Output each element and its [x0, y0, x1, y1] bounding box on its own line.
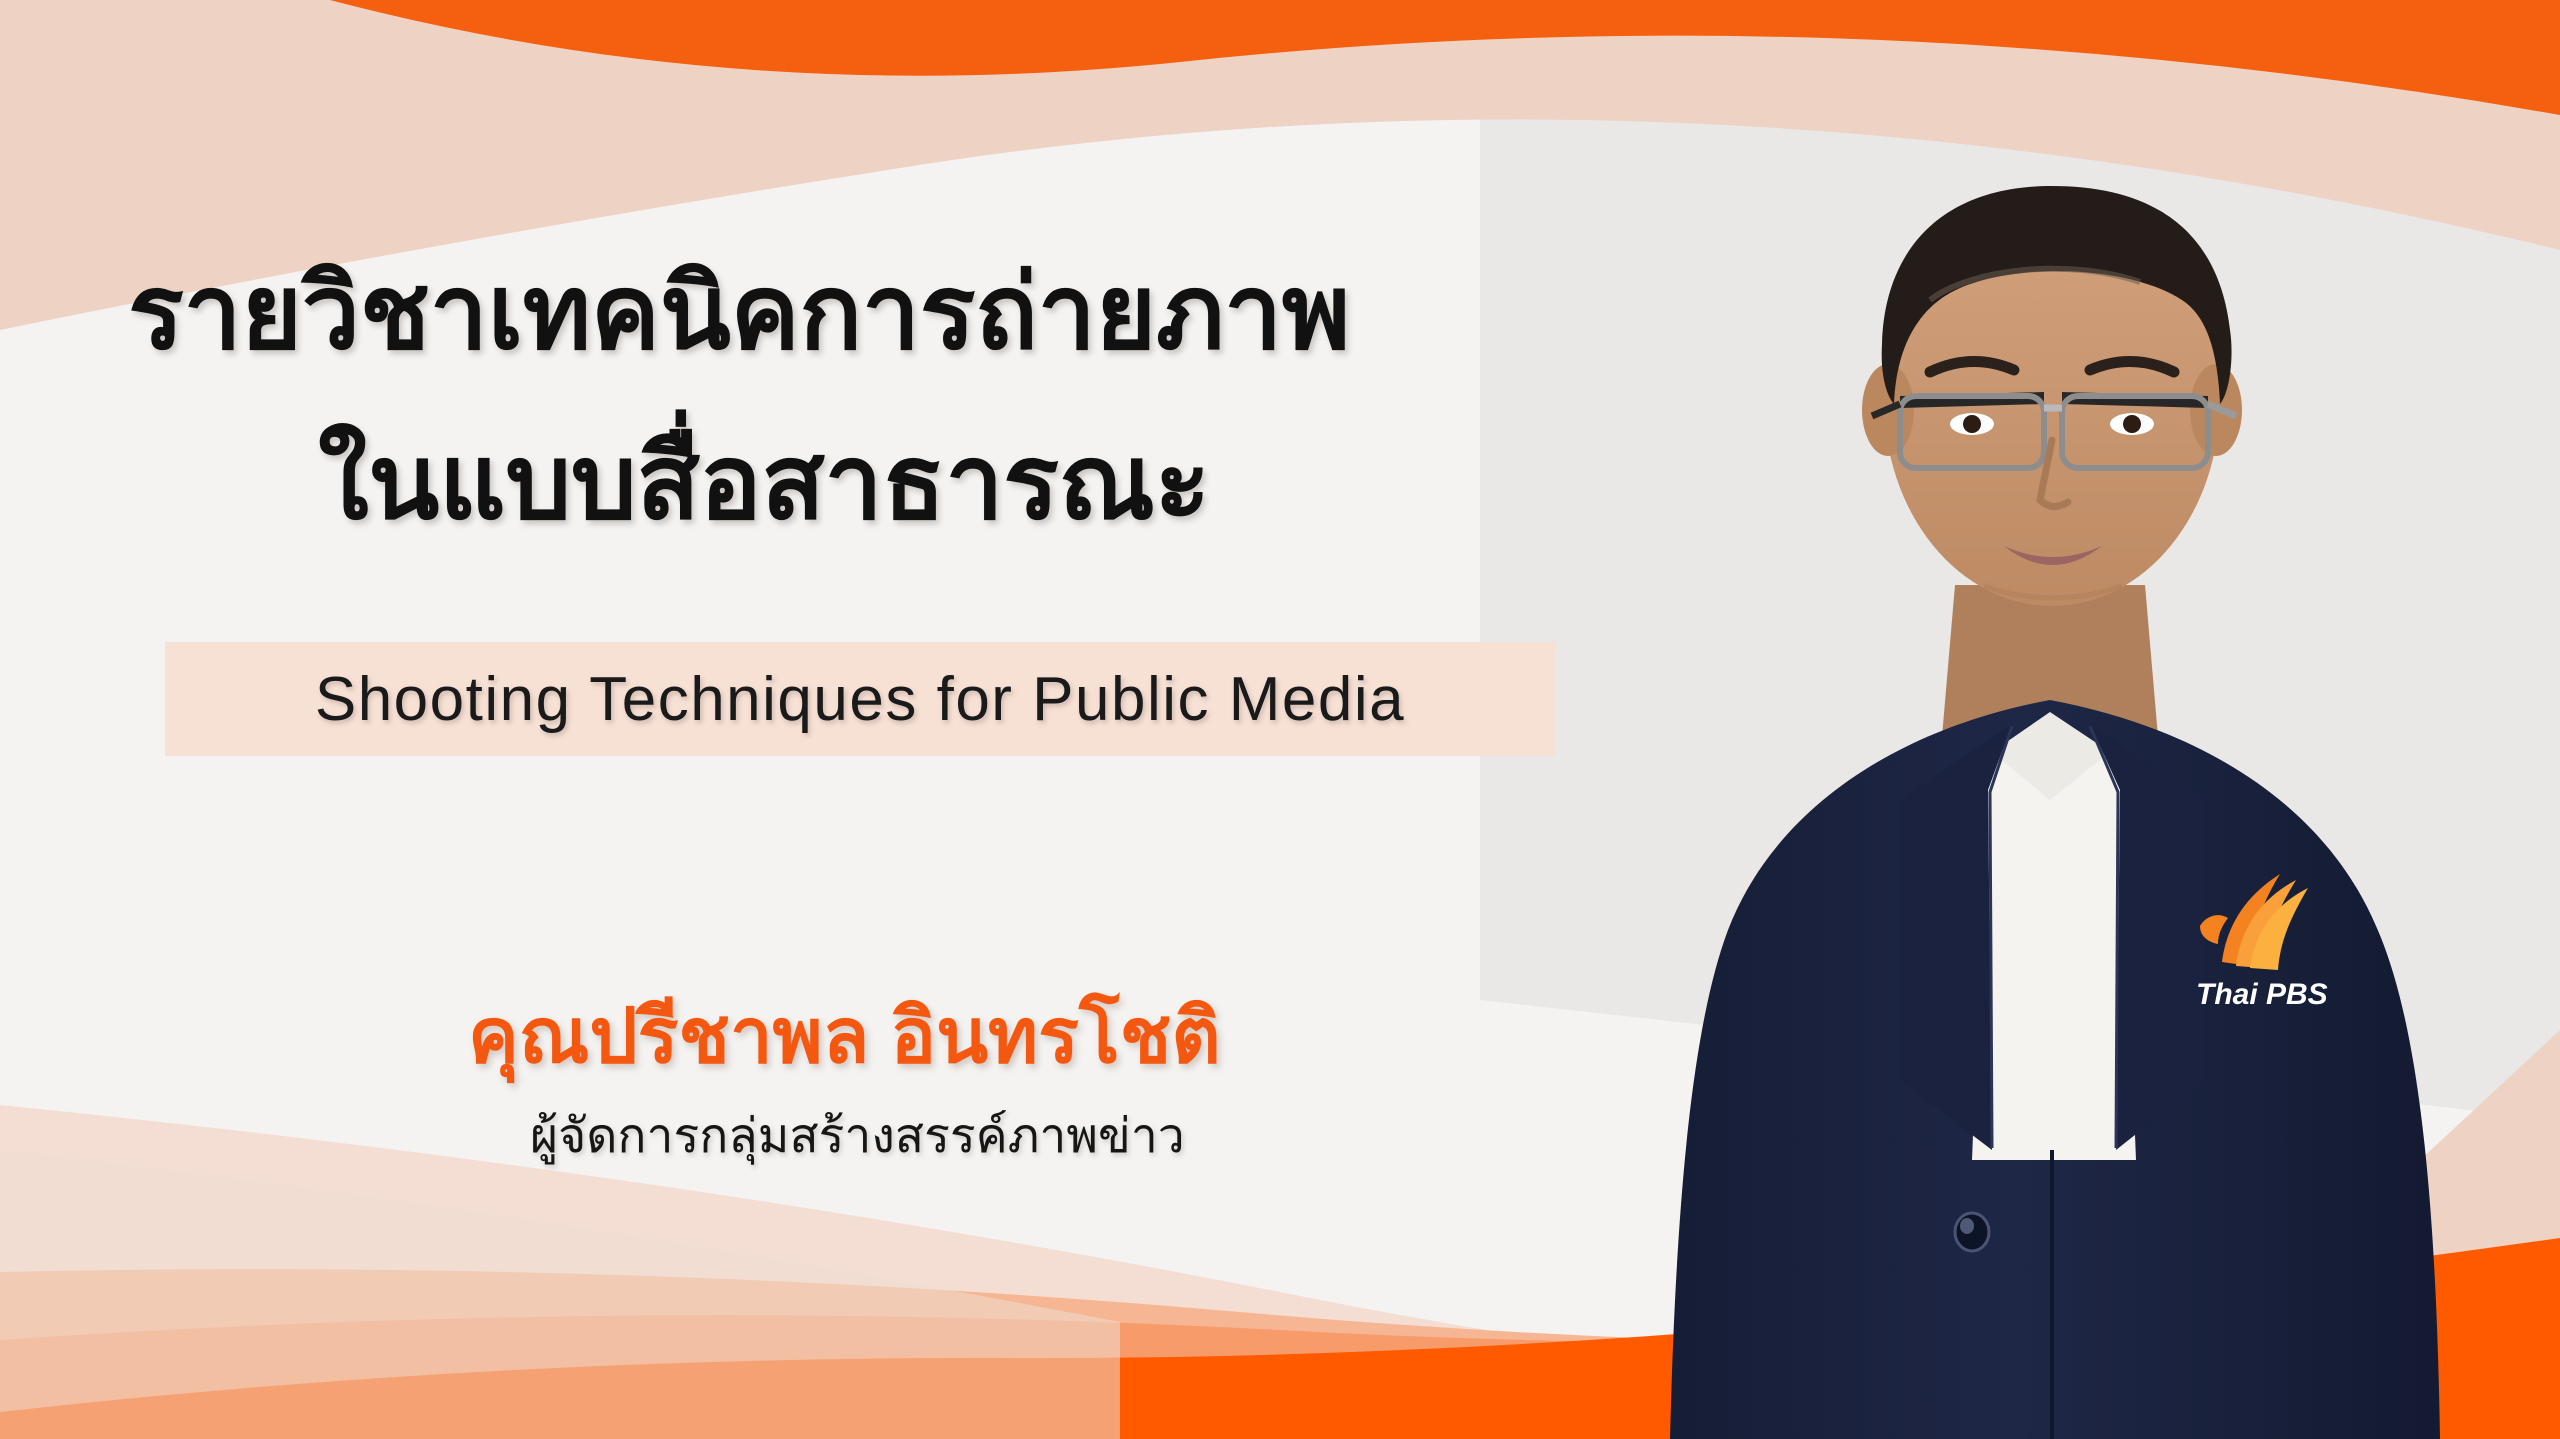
jacket-button: [1955, 1213, 1989, 1251]
subtitle-band: Shooting Techniques for Public Media: [165, 642, 1555, 756]
title-text-block: รายวิชาเทคนิคการถ่ายภาพ ในแบบสื่อสาธารณะ…: [0, 0, 1640, 1439]
course-title-line-1: รายวิชาเทคนิคการถ่ายภาพ: [128, 258, 1350, 368]
speaker-portrait: Thai PBS: [1600, 0, 2560, 1439]
speaker-name: คุณปรีชาพล อินทรโชติ: [468, 976, 1221, 1096]
thai-pbs-wordmark: Thai PBS: [2196, 978, 2328, 1011]
course-subtitle-english: Shooting Techniques for Public Media: [315, 664, 1405, 735]
jacket-button-highlight: [1960, 1218, 1974, 1234]
portrait-illustration: Thai PBS: [1600, 0, 2560, 1439]
course-title-slide: Thai PBS รายวิชาเทคนิคการถ่ายภาพ ในแบบสื…: [0, 0, 2560, 1439]
portrait-pupil-left: [1963, 415, 1981, 433]
portrait-pupil-right: [2123, 415, 2141, 433]
course-title-line-2: ในแบบสื่อสาธารณะ: [318, 428, 1210, 538]
speaker-role: ผู้จัดการกลุ่มสร้างสรรค์ภาพข่าว: [530, 1098, 1185, 1174]
